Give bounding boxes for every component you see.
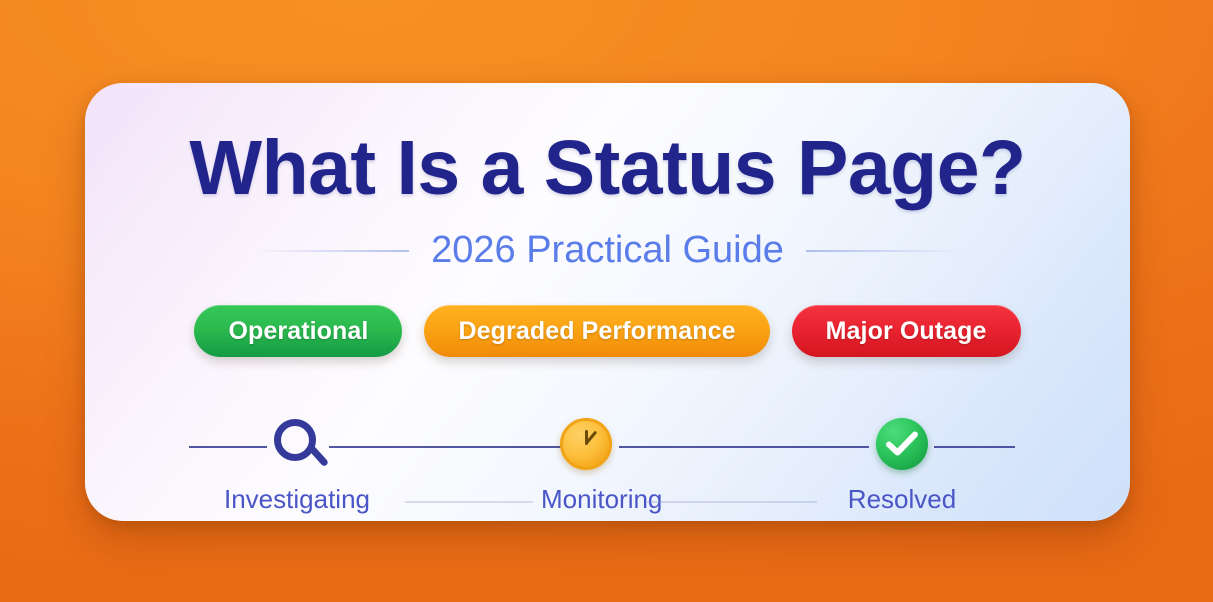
clock-icon (560, 418, 612, 470)
magnifying-glass-icon (274, 419, 316, 461)
status-pill-degraded-performance[interactable]: Degraded Performance (424, 305, 769, 357)
status-page-card: What Is a Status Page? 2026 Practical Gu… (85, 83, 1130, 521)
timeline-track-segment-end (934, 446, 1015, 448)
infographic-canvas: What Is a Status Page? 2026 Practical Gu… (0, 0, 1213, 602)
timeline-node-investigating[interactable] (268, 416, 326, 474)
timeline-label-monitoring: Monitoring (541, 484, 633, 515)
status-pill-major-outage[interactable]: Major Outage (792, 305, 1021, 357)
page-subtitle: 2026 Practical Guide (431, 229, 784, 272)
status-pill-operational[interactable]: Operational (194, 305, 402, 357)
page-title: What Is a Status Page? (85, 130, 1130, 207)
status-pill-row: Operational Degraded Performance Major O… (85, 305, 1130, 357)
incident-timeline: Investigating Monitoring Resolved (189, 398, 1015, 498)
subtitle-rule-right (806, 250, 961, 252)
subtitle-rule-left (254, 250, 409, 252)
check-circle-icon (876, 418, 928, 470)
timeline-track-segment-2 (619, 446, 869, 448)
timeline-label-rule-2 (647, 501, 817, 503)
timeline-node-resolved[interactable] (873, 416, 931, 474)
timeline-label-rule-1 (405, 501, 533, 503)
timeline-track-segment-start (189, 446, 267, 448)
timeline-node-monitoring[interactable] (557, 416, 615, 474)
timeline-label-resolved: Resolved (829, 484, 975, 515)
subtitle-row: 2026 Practical Guide (85, 229, 1130, 272)
timeline-label-row: Investigating Monitoring Resolved (189, 484, 1015, 520)
timeline-track-segment-1 (329, 446, 579, 448)
timeline-label-investigating: Investigating (197, 484, 397, 515)
